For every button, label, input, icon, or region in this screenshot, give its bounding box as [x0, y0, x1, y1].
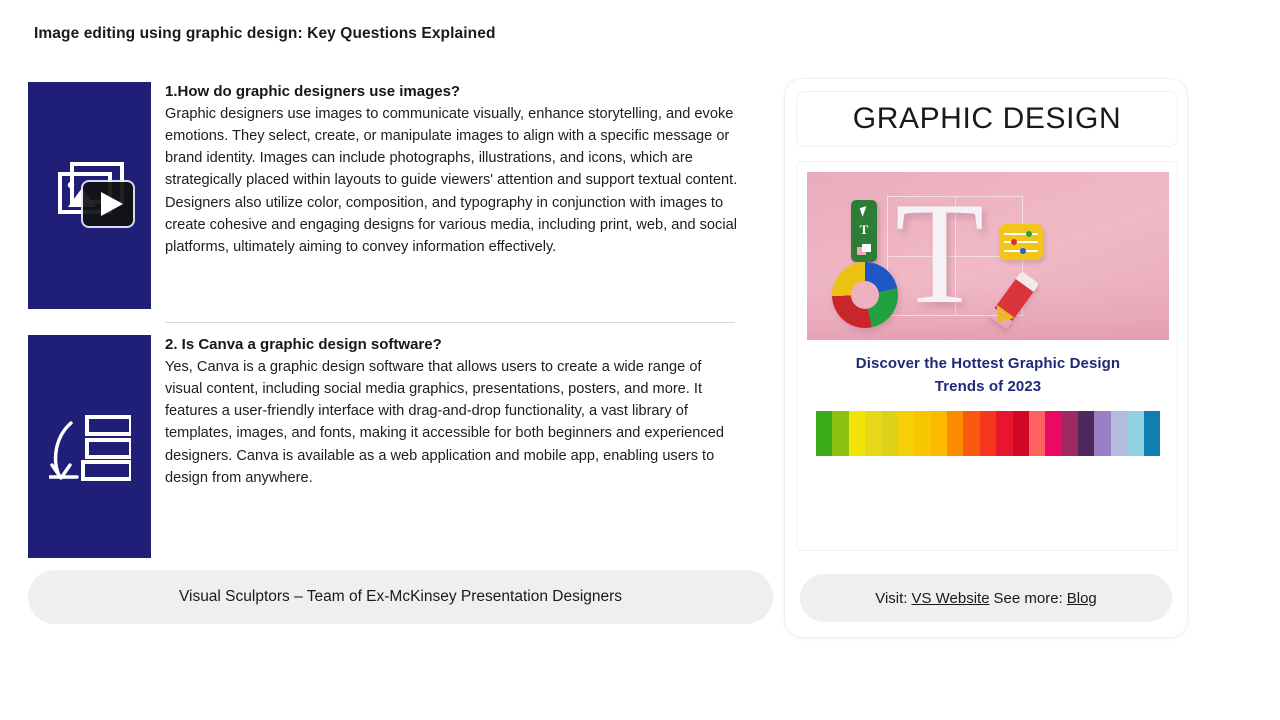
qa-2-text: 2. Is Canva a graphic design software? Y… [165, 335, 740, 489]
palette-swatch-10 [963, 411, 979, 456]
slider-settings-panel [999, 224, 1043, 260]
slider-row-3 [1004, 248, 1038, 254]
see-more-label: See more: [994, 590, 1063, 607]
caption-line-2: Trends of 2023 [935, 378, 1041, 395]
right-footer-pill: Visit: VS Website See more: Blog [800, 574, 1172, 622]
palette-swatch-5 [882, 411, 898, 456]
palette-swatch-12 [996, 411, 1012, 456]
left-footer-text: Visual Sculptors – Team of Ex-McKinsey P… [179, 588, 622, 606]
color-palette-strip [816, 411, 1160, 456]
palette-swatch-17 [1078, 411, 1094, 456]
arrange-stacked-blocks-arrow-icon [49, 411, 131, 483]
letter-t-3d: T [895, 194, 984, 312]
palette-swatch-18 [1094, 411, 1110, 456]
qa-2-answer: Yes, Canva is a graphic design software … [165, 356, 740, 490]
palette-swatch-11 [980, 411, 996, 456]
palette-swatch-1 [816, 411, 832, 456]
image-gallery-video-play-icon [44, 160, 136, 232]
palette-swatch-20 [1127, 411, 1143, 456]
cursor-text-tool-panel: T [851, 200, 877, 262]
visit-label: Visit: [875, 590, 907, 607]
donut-chart-icon [832, 262, 898, 328]
left-footer-pill: Visual Sculptors – Team of Ex-McKinsey P… [28, 570, 773, 624]
palette-swatch-21 [1144, 411, 1160, 456]
qa-1-answer: Graphic designers use images to communic… [165, 103, 740, 259]
palette-swatch-3 [849, 411, 865, 456]
palette-swatch-13 [1013, 411, 1029, 456]
cursor-icon [859, 206, 868, 217]
right-card: GRAPHIC DESIGN T T [784, 78, 1188, 638]
graphic-design-illustration: T T [807, 172, 1169, 340]
palette-swatch-2 [832, 411, 848, 456]
card-body: T T D [796, 161, 1178, 551]
palette-swatch-19 [1111, 411, 1127, 456]
qa-1-question: 1.How do graphic designers use images? [165, 82, 740, 102]
palette-swatch-8 [931, 411, 947, 456]
palette-swatch-14 [1029, 411, 1045, 456]
qa-block-2: 2. Is Canva a graphic design software? Y… [28, 335, 740, 489]
palette-swatch-4 [865, 411, 881, 456]
palette-swatch-7 [914, 411, 930, 456]
slider-row-1 [1004, 231, 1038, 237]
blog-link[interactable]: Blog [1067, 590, 1097, 607]
card-caption: Discover the Hottest Graphic Design Tren… [811, 352, 1165, 399]
card-header-title: GRAPHIC DESIGN [853, 102, 1121, 136]
text-tool-icon: T [860, 223, 869, 236]
page-title: Image editing using graphic design: Key … [34, 25, 496, 43]
caption-line-1: Discover the Hottest Graphic Design [856, 355, 1120, 372]
palette-swatch-6 [898, 411, 914, 456]
qa-2-question: 2. Is Canva a graphic design software? [165, 335, 740, 355]
slide-root: Image editing using graphic design: Key … [0, 0, 1280, 720]
qa-block-1: 1.How do graphic designers use images? G… [28, 82, 740, 259]
qa-1-icon-box [28, 82, 151, 309]
qa-2-icon-box [28, 335, 151, 558]
vs-website-link[interactable]: VS Website [911, 590, 989, 607]
palette-swatch-9 [947, 411, 963, 456]
shapes-icon [857, 244, 871, 255]
qa-1-text: 1.How do graphic designers use images? G… [165, 82, 740, 259]
slider-row-2 [1004, 239, 1038, 245]
card-header: GRAPHIC DESIGN [796, 91, 1178, 147]
palette-swatch-15 [1045, 411, 1061, 456]
section-divider [165, 322, 735, 323]
palette-swatch-16 [1062, 411, 1078, 456]
